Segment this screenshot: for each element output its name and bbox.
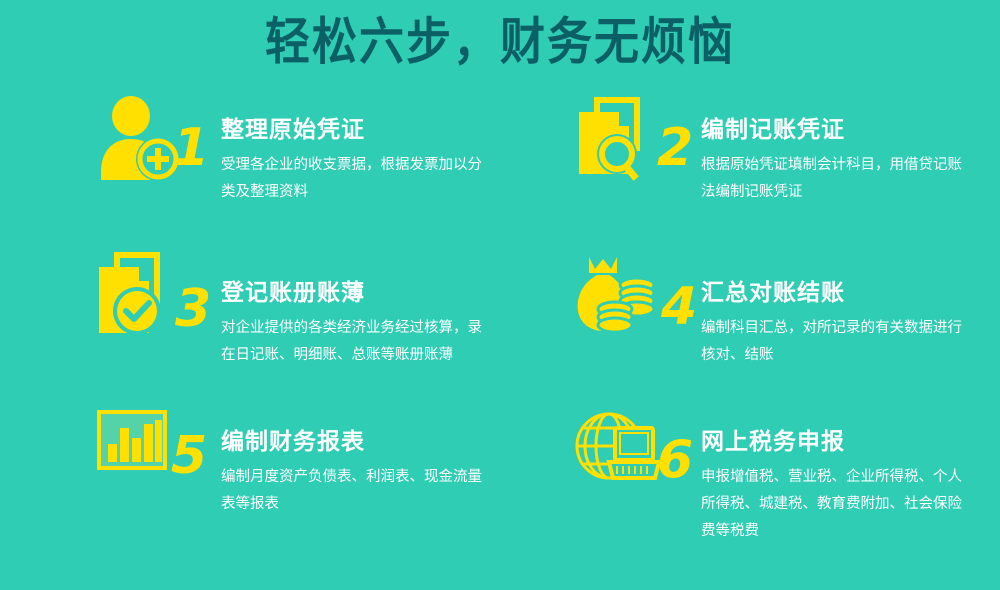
step-item-3: 3 登记账册账薄 对企业提供的各类经济业务经过核算，录在日记账、明细账、总账等账… [95, 251, 555, 406]
step-item-1: 1 整理原始凭证 受理各企业的收支票据，根据发票加以分类及整理资料 [95, 96, 555, 251]
step-item-2: 2 编制记账凭证 根据原始凭证填制会计科目，用借贷记账法编制记账凭证 [575, 96, 1000, 251]
step-5-text-col: 编制财务报表 编制月度资产负债表、利润表、现金流量表等报表 [215, 406, 555, 518]
title-container: 轻松六步，财务无烦恼 [0, 12, 1000, 66]
step-1-desc: 受理各企业的收支票据，根据发票加以分类及整理资料 [221, 152, 493, 206]
step-2-title: 编制记账凭证 [701, 118, 1000, 143]
globe-laptop-icon [575, 406, 667, 492]
step-1-number: 1 [173, 122, 208, 174]
step-6-title: 网上税务申报 [701, 430, 1000, 455]
step-5-icon-col: 5 [95, 406, 215, 496]
money-bag-coins-icon [575, 251, 667, 337]
step-3-number: 3 [175, 283, 210, 335]
step-5-title: 编制财务报表 [221, 430, 555, 455]
step-2-desc: 根据原始凭证填制会计科目，用借贷记账法编制记账凭证 [701, 152, 973, 206]
step-1-text-col: 整理原始凭证 受理各企业的收支票据，根据发票加以分类及整理资料 [215, 96, 555, 206]
steps-grid: 1 整理原始凭证 受理各企业的收支票据，根据发票加以分类及整理资料 2 [0, 96, 1000, 566]
documents-search-icon [575, 96, 667, 182]
step-4-desc: 编制科目汇总，对所记录的有关数据进行核对、结账 [701, 315, 973, 369]
step-3-title: 登记账册账薄 [221, 281, 555, 306]
step-6-desc: 申报增值税、营业税、企业所得税、个人所得税、城建税、教育费附加、社会保险费等税费 [701, 464, 973, 544]
step-4-title: 汇总对账结账 [701, 281, 1000, 306]
infographic-page: 轻松六步，财务无烦恼 1 整理原始凭证 受理各企业的收支票据，根据发票加以分类及… [0, 0, 1000, 590]
step-1-icon-col: 1 [95, 96, 215, 186]
step-4-text-col: 汇总对账结账 编制科目汇总，对所记录的有关数据进行核对、结账 [695, 251, 1000, 369]
step-6-icon-col: 6 [575, 406, 695, 496]
step-5-desc: 编制月度资产负债表、利润表、现金流量表等报表 [221, 464, 493, 518]
step-item-6: 6 网上税务申报 申报增值税、营业税、企业所得税、个人所得税、城建税、教育费附加… [575, 406, 1000, 566]
step-2-number: 2 [657, 122, 692, 174]
step-6-number: 6 [657, 434, 692, 486]
step-2-icon-col: 2 [575, 96, 695, 186]
step-5-number: 5 [171, 430, 206, 482]
step-3-icon-col: 3 [95, 251, 215, 341]
step-6-text-col: 网上税务申报 申报增值税、营业税、企业所得税、个人所得税、城建税、教育费附加、社… [695, 406, 1000, 545]
step-4-number: 4 [661, 281, 696, 333]
step-3-desc: 对企业提供的各类经济业务经过核算，录在日记账、明细账、总账等账册账薄 [221, 315, 493, 369]
step-3-text-col: 登记账册账薄 对企业提供的各类经济业务经过核算，录在日记账、明细账、总账等账册账… [215, 251, 555, 369]
step-2-text-col: 编制记账凭证 根据原始凭证填制会计科目，用借贷记账法编制记账凭证 [695, 96, 1000, 206]
step-4-icon-col: 4 [575, 251, 695, 341]
page-title: 轻松六步，财务无烦恼 [265, 12, 735, 72]
step-1-title: 整理原始凭证 [221, 118, 555, 143]
step-item-5: 5 编制财务报表 编制月度资产负债表、利润表、现金流量表等报表 [95, 406, 555, 566]
step-item-4: 4 汇总对账结账 编制科目汇总，对所记录的有关数据进行核对、结账 [575, 251, 1000, 406]
documents-check-icon [95, 251, 187, 343]
